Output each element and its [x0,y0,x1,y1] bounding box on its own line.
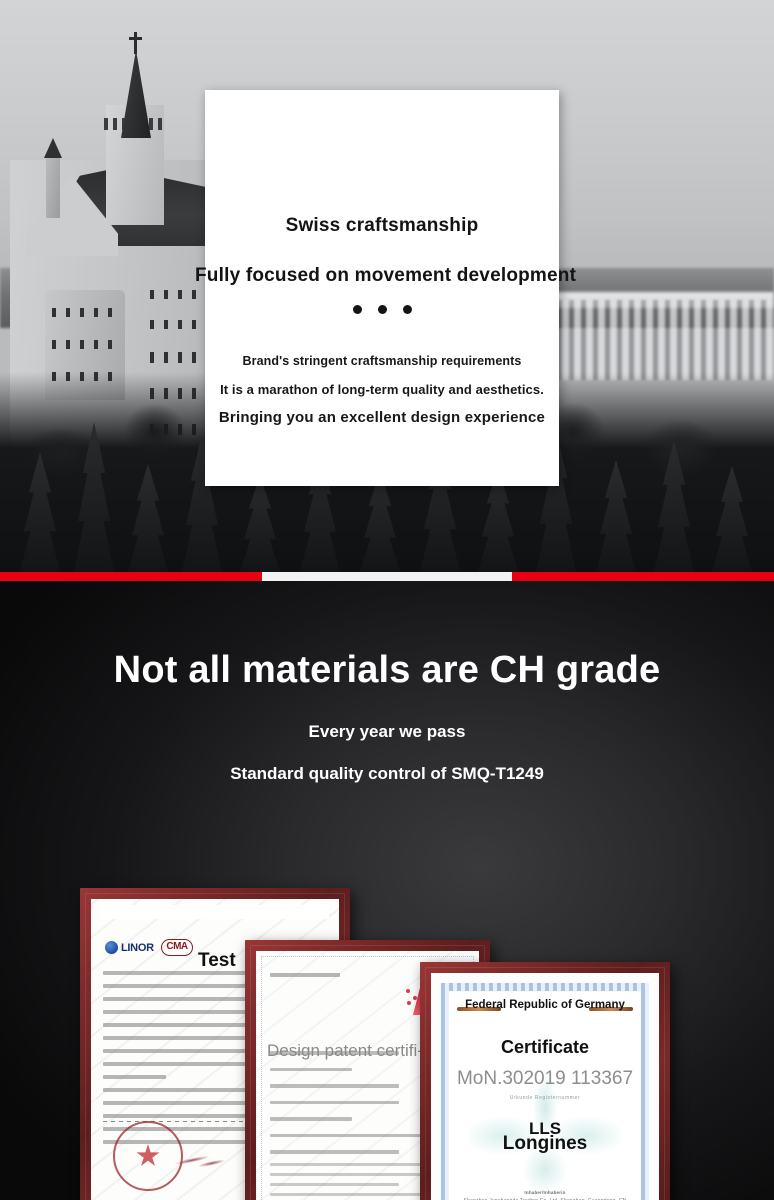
certificate-text-line [103,1036,251,1040]
quote-card: Swiss craftsmanship Fully focused on mov… [205,90,559,486]
spire-cone [121,50,151,138]
separator-dot [403,305,412,314]
castle-photo-banner: Swiss craftsmanship Fully focused on mov… [0,0,774,572]
quote-detail-line-1: Brand's stringent craftsmanship requirem… [199,354,565,368]
certificate-text-line [103,1114,251,1118]
certificate-text-line [270,1101,399,1105]
certificate-text-line [103,1023,251,1027]
certificate-microtext: Urkunde Registernummer [431,1095,659,1101]
product-landing-page: Swiss craftsmanship Fully focused on mov… [0,0,774,1200]
certificate-text-line [103,1075,166,1079]
star-icon [136,1144,160,1168]
section-subtitle-1: Every year we pass [0,722,774,742]
carousel-progress-thumb[interactable] [262,572,512,581]
quote-detail-line-3: Bringing you an excellent design experie… [199,409,565,426]
linor-logo: LINOR [105,941,154,954]
section-subtitle-2: Standard quality control of SMQ-T1249 [0,764,774,784]
german-federal-certificate: Federal Republic of Germany Certificate … [431,973,659,1200]
certificate-text-line [270,973,340,977]
dot-separator [205,305,559,314]
german-federal-certificate-frame[interactable]: Federal Republic of Germany Certificate … [420,962,670,1200]
linor-logo-text: LINOR [121,942,154,954]
certificate-header-band [101,905,329,919]
certificate-title: Certificate [431,1037,659,1058]
certificate-text-line [270,1134,442,1138]
castle-window-row [52,308,118,317]
test-report-overlay-label: Test [198,950,236,972]
carousel-progress-track[interactable] [0,572,774,581]
certificate-number: MoN.302019 113367 [431,1068,659,1090]
certificate-text-line [270,1117,352,1121]
section-headline: Not all materials are CH grade [0,649,774,692]
certificate-top-label [270,973,340,986]
certificate-text-line [270,1183,399,1186]
cma-logo: CMA [161,939,193,956]
certificate-text-line [270,1193,442,1196]
certificate-text-line [270,1163,442,1166]
quote-detail-line-2: It is a marathon of long-term quality an… [199,382,565,397]
certificate-text-line [270,1173,442,1176]
separator-dot [353,305,362,314]
certificate-brand-line-2: Longines [431,1135,659,1153]
castle-turret [46,156,60,218]
certificate-country: Federal Republic of Germany [431,998,659,1012]
castle-spire [113,30,159,180]
certificate-text-line [270,1150,399,1154]
certificate-footer-label: Inhaber/Inhaberin [431,1190,659,1195]
quote-heading-secondary: Fully focused on movement development [195,265,569,287]
spire-cross-icon [134,32,137,54]
castle-window-row [52,340,118,349]
certificate-brand: LLS Longines [431,1121,659,1153]
quote-heading-primary: Swiss craftsmanship [205,215,559,237]
certificate-text-line [270,1068,352,1072]
globe-icon [105,941,118,954]
separator-dot [378,305,387,314]
certificate-text-line [270,1084,399,1088]
